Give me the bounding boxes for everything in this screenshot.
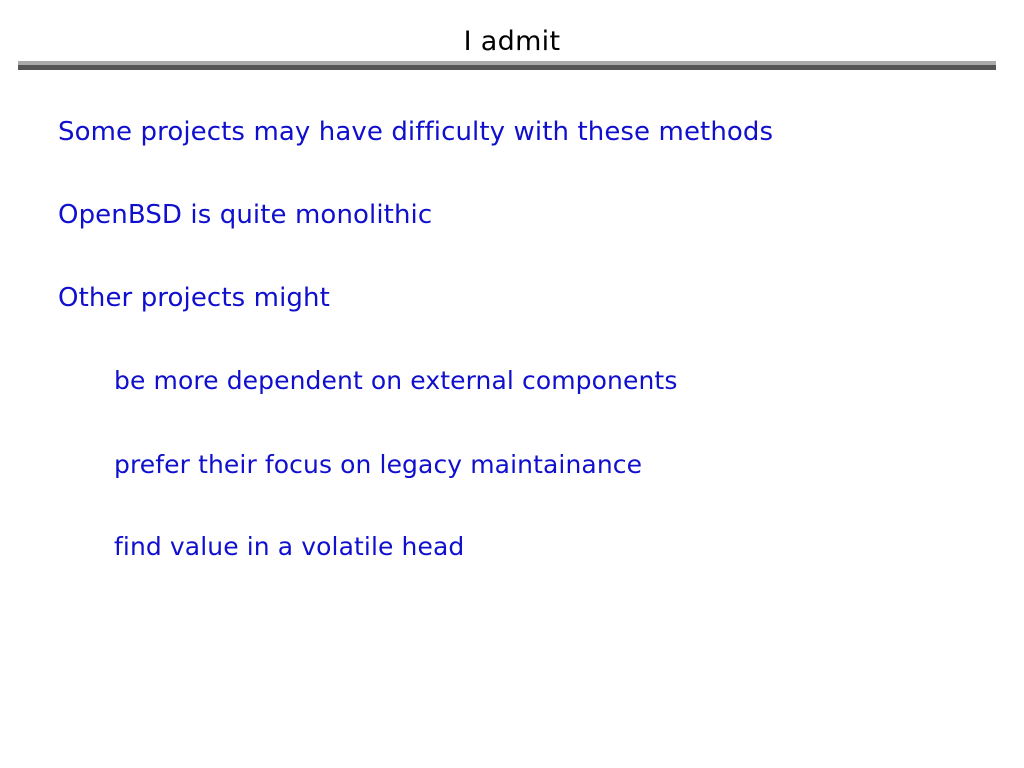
list-item: prefer their focus on legacy maintainanc… — [114, 452, 642, 477]
list-item: OpenBSD is quite monolithic — [58, 202, 432, 228]
slide-canvas: I admit Some projects may have difficult… — [0, 0, 1024, 768]
bullet-list: Some projects may have difficulty with t… — [0, 0, 1024, 768]
list-item: Some projects may have difficulty with t… — [58, 119, 773, 145]
list-item: Other projects might — [58, 285, 330, 311]
list-item: be more dependent on external components — [114, 368, 677, 393]
list-item: find value in a volatile head — [114, 534, 464, 559]
